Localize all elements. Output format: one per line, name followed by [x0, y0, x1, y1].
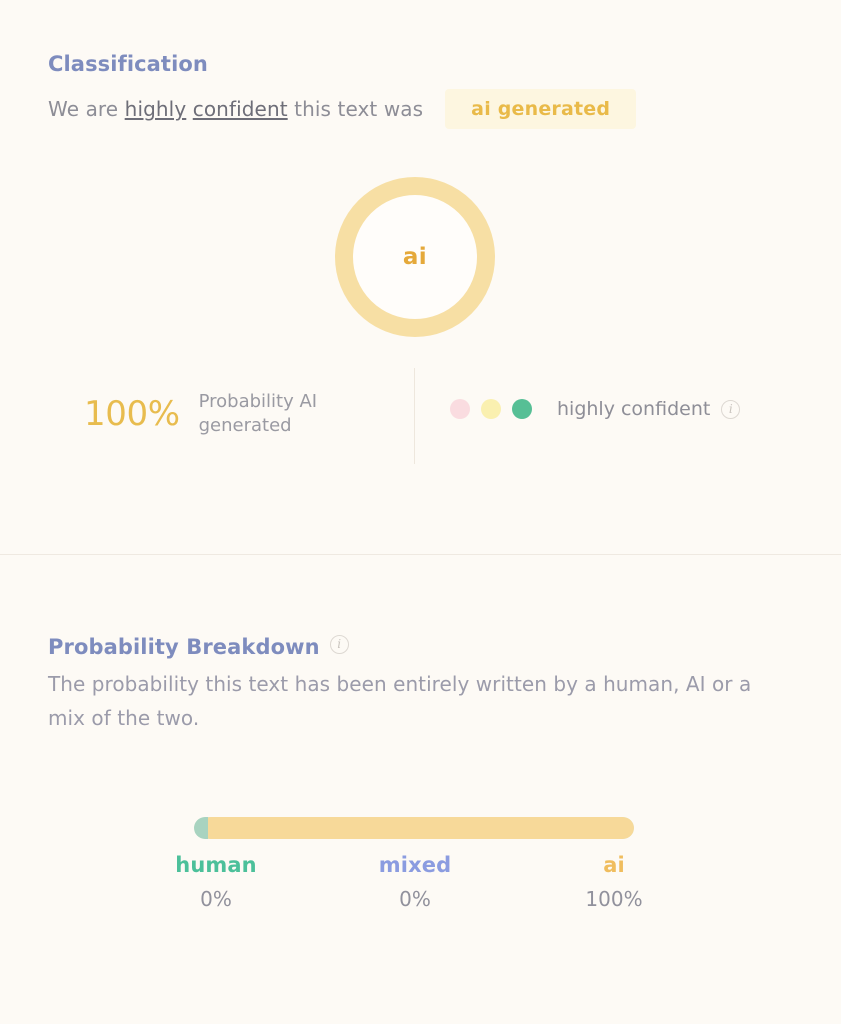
probability-ai-stat: 100% Probability AI generated [84, 390, 349, 438]
verdict-emphasis-highly: highly [125, 97, 187, 121]
verdict-sentence: We are highly confident this text was [48, 97, 423, 121]
legend-label-mixed: mixed [379, 853, 451, 877]
probability-bar-segment-human [194, 817, 208, 839]
gauge-center-label: ai [335, 177, 495, 337]
legend-value-ai: 100% [585, 887, 642, 911]
confidence-dot-medium [481, 399, 501, 419]
stats-row: 100% Probability AI generated i highly c… [0, 368, 841, 468]
info-icon-breakdown[interactable]: i [330, 635, 349, 654]
confidence-stat: highly confident i [450, 398, 740, 420]
probability-bar-segment-ai [200, 817, 634, 839]
verdict-prefix: We are [48, 97, 125, 121]
breakdown-title: Probability Breakdown [48, 635, 320, 659]
stats-vertical-divider [414, 368, 415, 464]
legend-label-human: human [175, 853, 256, 877]
legend-label-ai: ai [603, 853, 625, 877]
status-badge: ai generated [445, 89, 636, 129]
classification-section: Classification We are highly confident t… [0, 0, 841, 554]
probability-breakdown-section: Probability Breakdown i The probability … [0, 555, 841, 1024]
probability-bar [194, 817, 634, 839]
legend-value-human: 0% [200, 887, 232, 911]
legend-item-mixed: mixed 0% [369, 853, 461, 911]
probability-caption: Probability AI generated [199, 390, 349, 438]
legend-value-mixed: 0% [399, 887, 431, 911]
breakdown-title-row: Probability Breakdown i [48, 635, 349, 659]
probability-gauge: ai [335, 177, 495, 337]
page-title: Classification [48, 52, 208, 76]
probability-value: 100% [84, 394, 180, 434]
legend-item-human: human 0% [170, 853, 262, 911]
verdict-emphasis-confident: confident [193, 97, 288, 121]
breakdown-description: The probability this text has been entir… [48, 667, 793, 736]
verdict-row: We are highly confident this text was ai… [48, 90, 636, 128]
info-icon-confidence[interactable]: i [721, 400, 740, 419]
legend-item-ai: ai 100% [568, 853, 660, 911]
confidence-dot-low [450, 399, 470, 419]
confidence-label: highly confident [557, 398, 710, 420]
confidence-dot-high [512, 399, 532, 419]
verdict-suffix: this text was [288, 97, 423, 121]
confidence-dots [450, 399, 532, 419]
probability-legend: human 0% mixed 0% ai 100% [170, 853, 660, 911]
